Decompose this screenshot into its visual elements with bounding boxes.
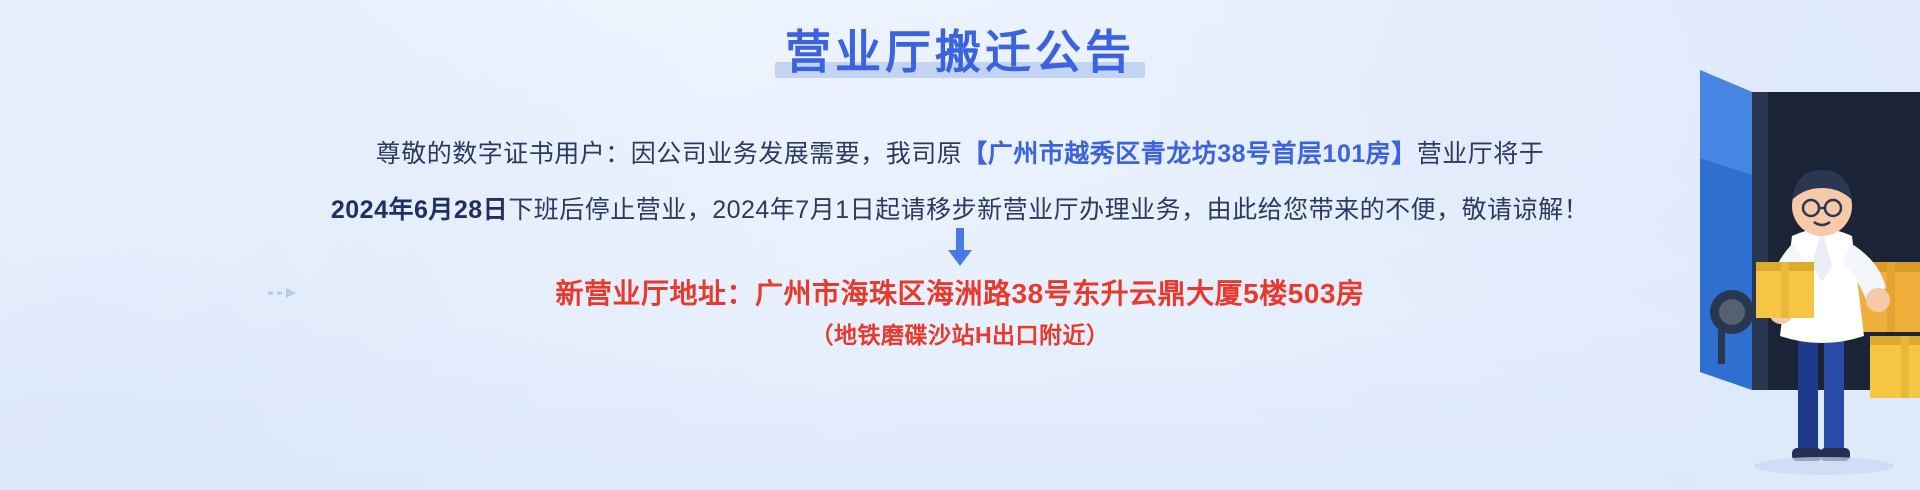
truck-door-edge [1752,92,1768,390]
person-leg-right [1824,330,1844,450]
page-title: 营业厅搬迁公告 [779,24,1141,80]
truck-mirror-glass [1719,299,1745,325]
closing-date-highlight: 2024年6月28日 [331,196,508,224]
old-address-highlight: 【广州市越秀区青龙坊38号首层101房】 [962,140,1417,168]
held-box-tape [1781,262,1789,318]
cargo-box-2-tape [1901,336,1909,398]
down-arrow-icon [945,228,975,268]
cargo-box-2-lid [1870,336,1920,345]
person-hand-right [1866,288,1890,312]
cargo-box-2 [1870,336,1920,398]
page-title-text: 营业厅搬迁公告 [785,26,1135,78]
person-leg-left [1798,330,1818,450]
truck-mirror-arm [1718,330,1725,364]
notice-line1-prefix: 尊敬的数字证书用户：因公司业务发展需要，我司原 [376,140,963,168]
relocation-notice-banner: 营业厅搬迁公告 尊敬的数字证书用户：因公司业务发展需要，我司原【广州市越秀区青龙… [0,0,1920,490]
truck-door-highlight [1700,70,1752,175]
moving-truck-illustration [1400,0,1920,490]
person-shadow [1754,457,1894,475]
